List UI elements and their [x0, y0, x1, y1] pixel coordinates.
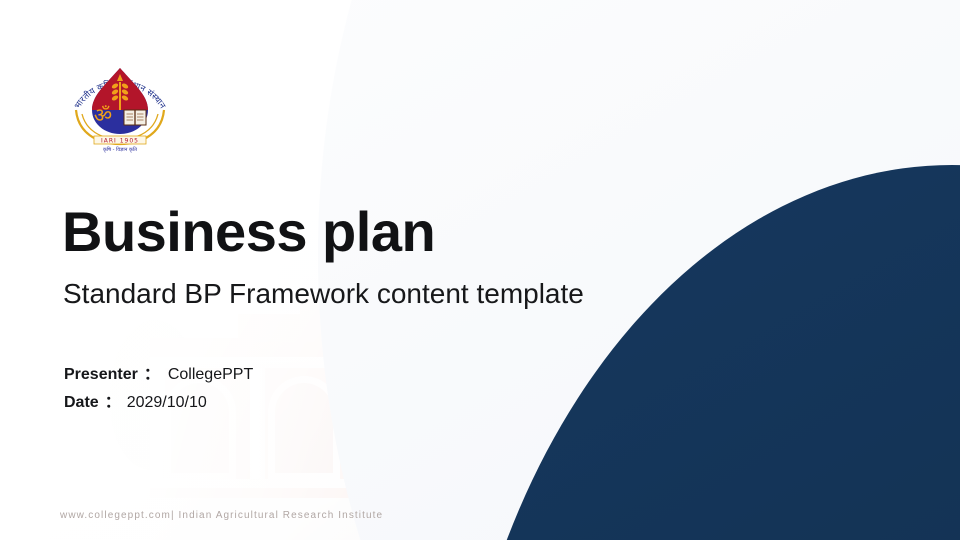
svg-text:कृषि - विज्ञान कृति: कृषि - विज्ञान कृति [103, 146, 137, 153]
presenter-value: CollegePPT [168, 366, 253, 384]
page-subtitle: Standard BP Framework content template [63, 278, 584, 310]
date-line: Date ： 2029/10/10 [64, 388, 207, 412]
svg-text:ॐ: ॐ [94, 103, 112, 127]
presenter-separator: ： [144, 360, 160, 384]
date-value: 2029/10/10 [127, 394, 207, 412]
presenter-label: Presenter [64, 366, 138, 384]
svg-text:IARI 1905: IARI 1905 [101, 137, 139, 144]
date-separator: ： [105, 388, 121, 412]
presenter-line: Presenter ： CollegePPT [64, 360, 253, 384]
footer-credit: www.collegeppt.com| Indian Agricultural … [60, 510, 383, 521]
presentation-slide: भा. कृ. अ. सं. पुस्तकालय I.A.R.I. LIBRAR… [0, 0, 960, 540]
institute-logo: भारतीय कृषि अनुसंधान संस्थान ॐ [60, 44, 180, 156]
page-title: Business plan [62, 203, 435, 262]
date-label: Date [64, 394, 99, 412]
